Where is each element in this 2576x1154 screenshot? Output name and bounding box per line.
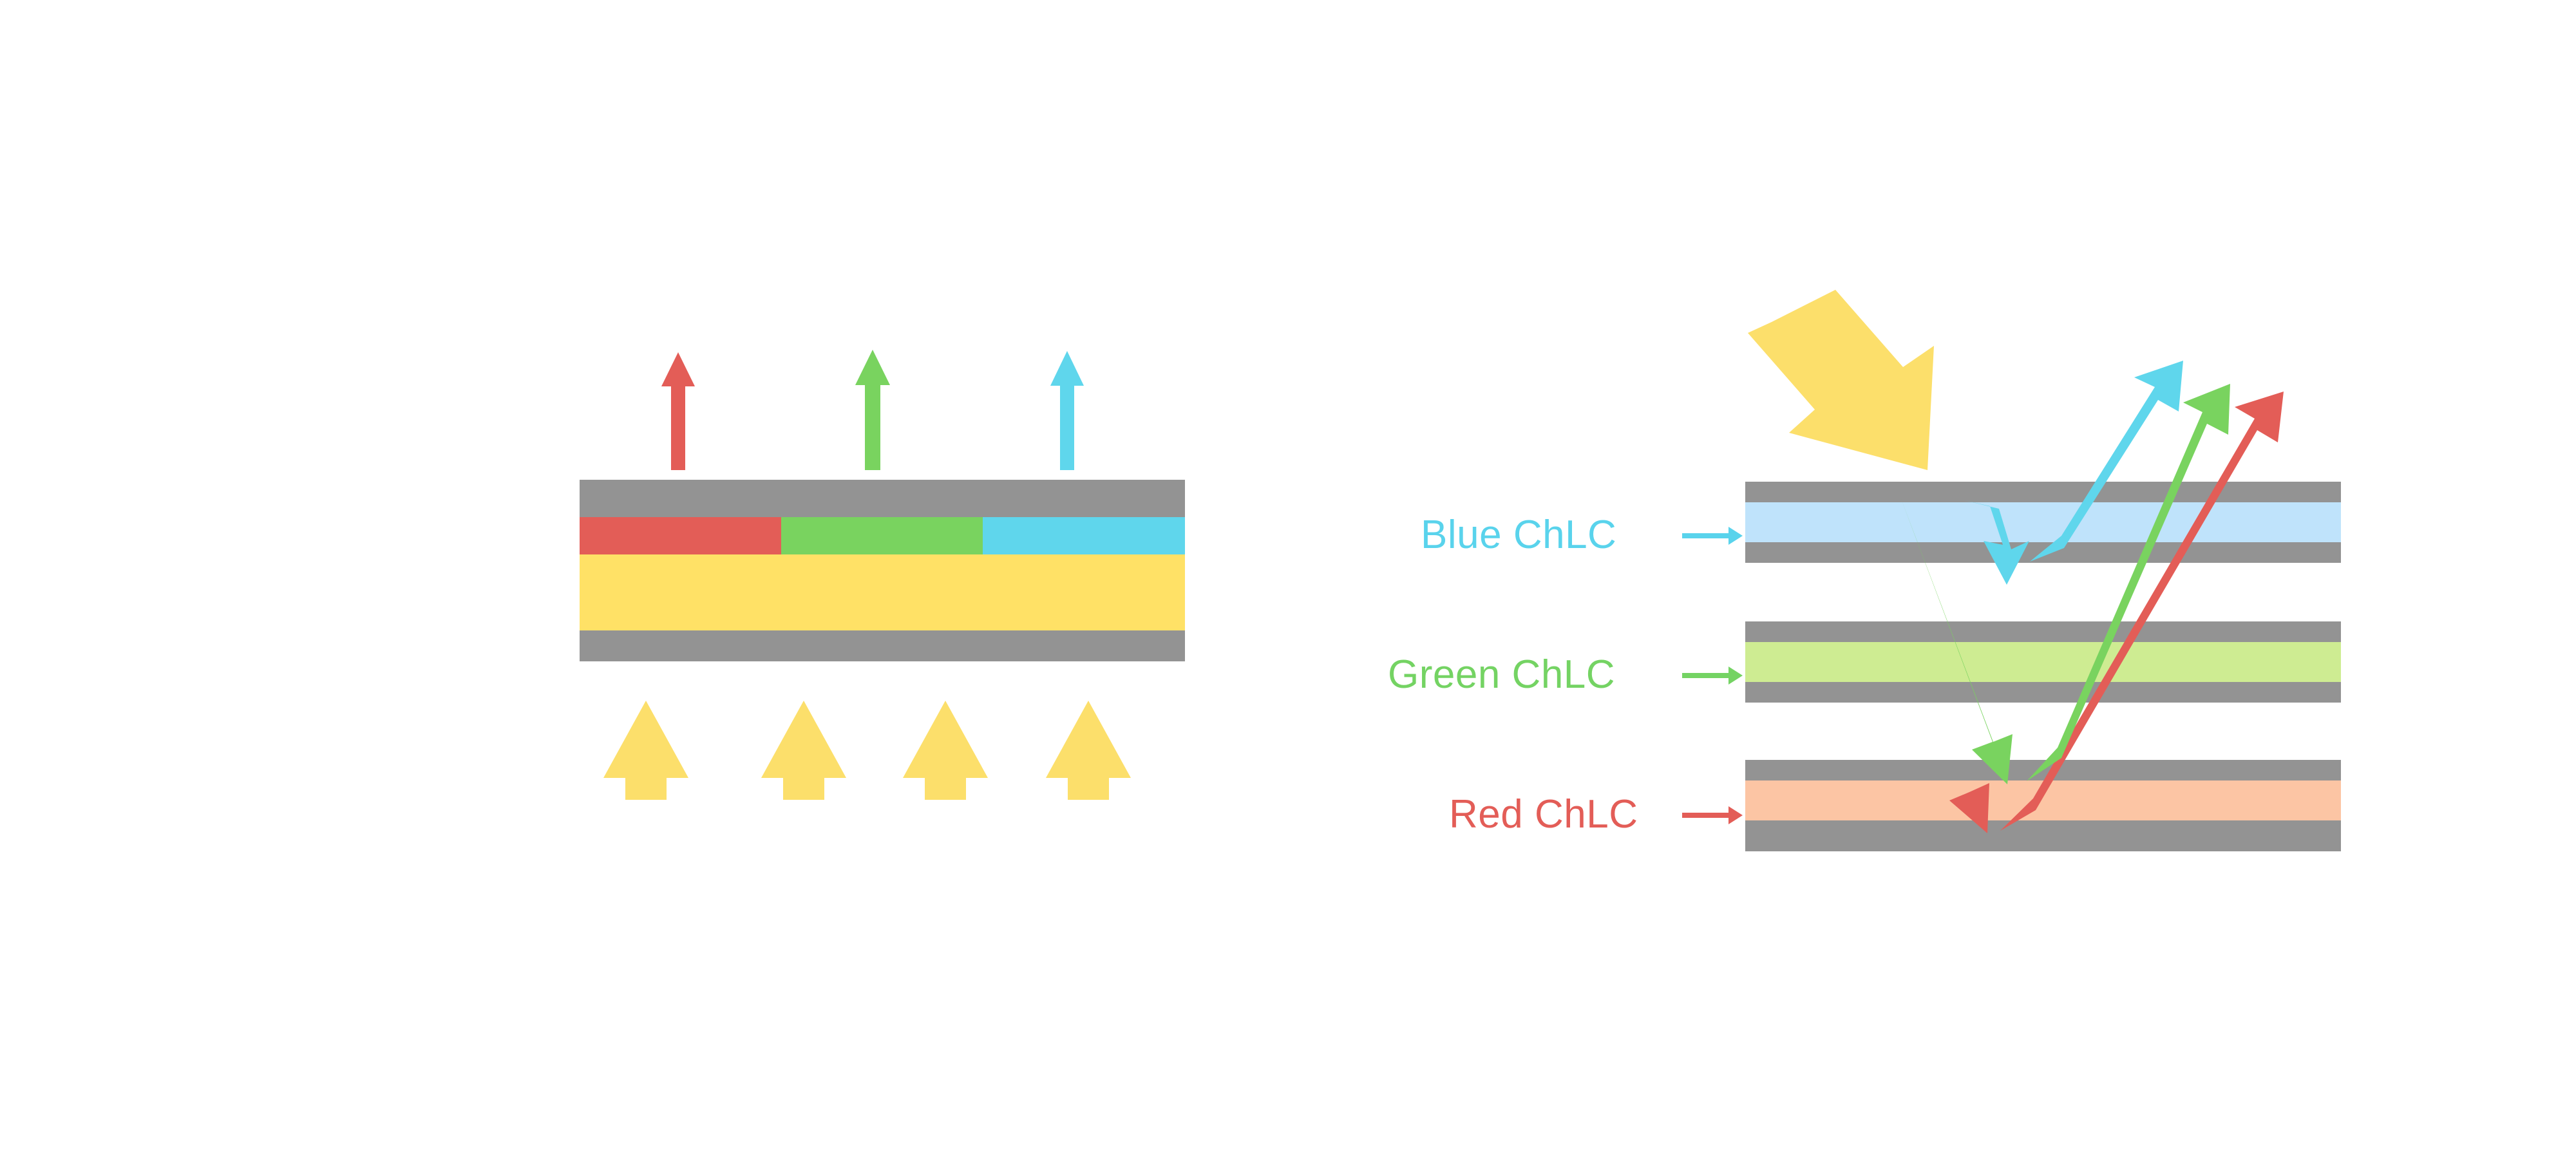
blue-group-top-bar	[1745, 482, 2341, 502]
color-filter-green	[781, 517, 983, 554]
color-filter-red	[580, 517, 781, 554]
color-filter-blue	[983, 517, 1185, 554]
yellow-backlight-layer	[580, 554, 1185, 630]
left-layer-stack	[580, 480, 1185, 661]
blue-chlc-film	[1745, 502, 2341, 542]
red-chlc-label: Red ChLC	[1449, 795, 1638, 835]
green-chlc-label: Green ChLC	[1388, 655, 1615, 695]
bottom-electrode-layer	[580, 630, 1185, 661]
diagram-canvas	[0, 0, 2576, 1154]
green-chlc-film	[1745, 642, 2341, 682]
top-electrode-layer	[580, 480, 1185, 517]
green-group-top-bar	[1745, 621, 2341, 642]
green-group-bottom-bar	[1745, 682, 2341, 703]
blue-chlc-label: Blue ChLC	[1421, 515, 1616, 555]
canvas-background	[0, 0, 2576, 1154]
red-group-bottom-bar	[1745, 820, 2341, 851]
